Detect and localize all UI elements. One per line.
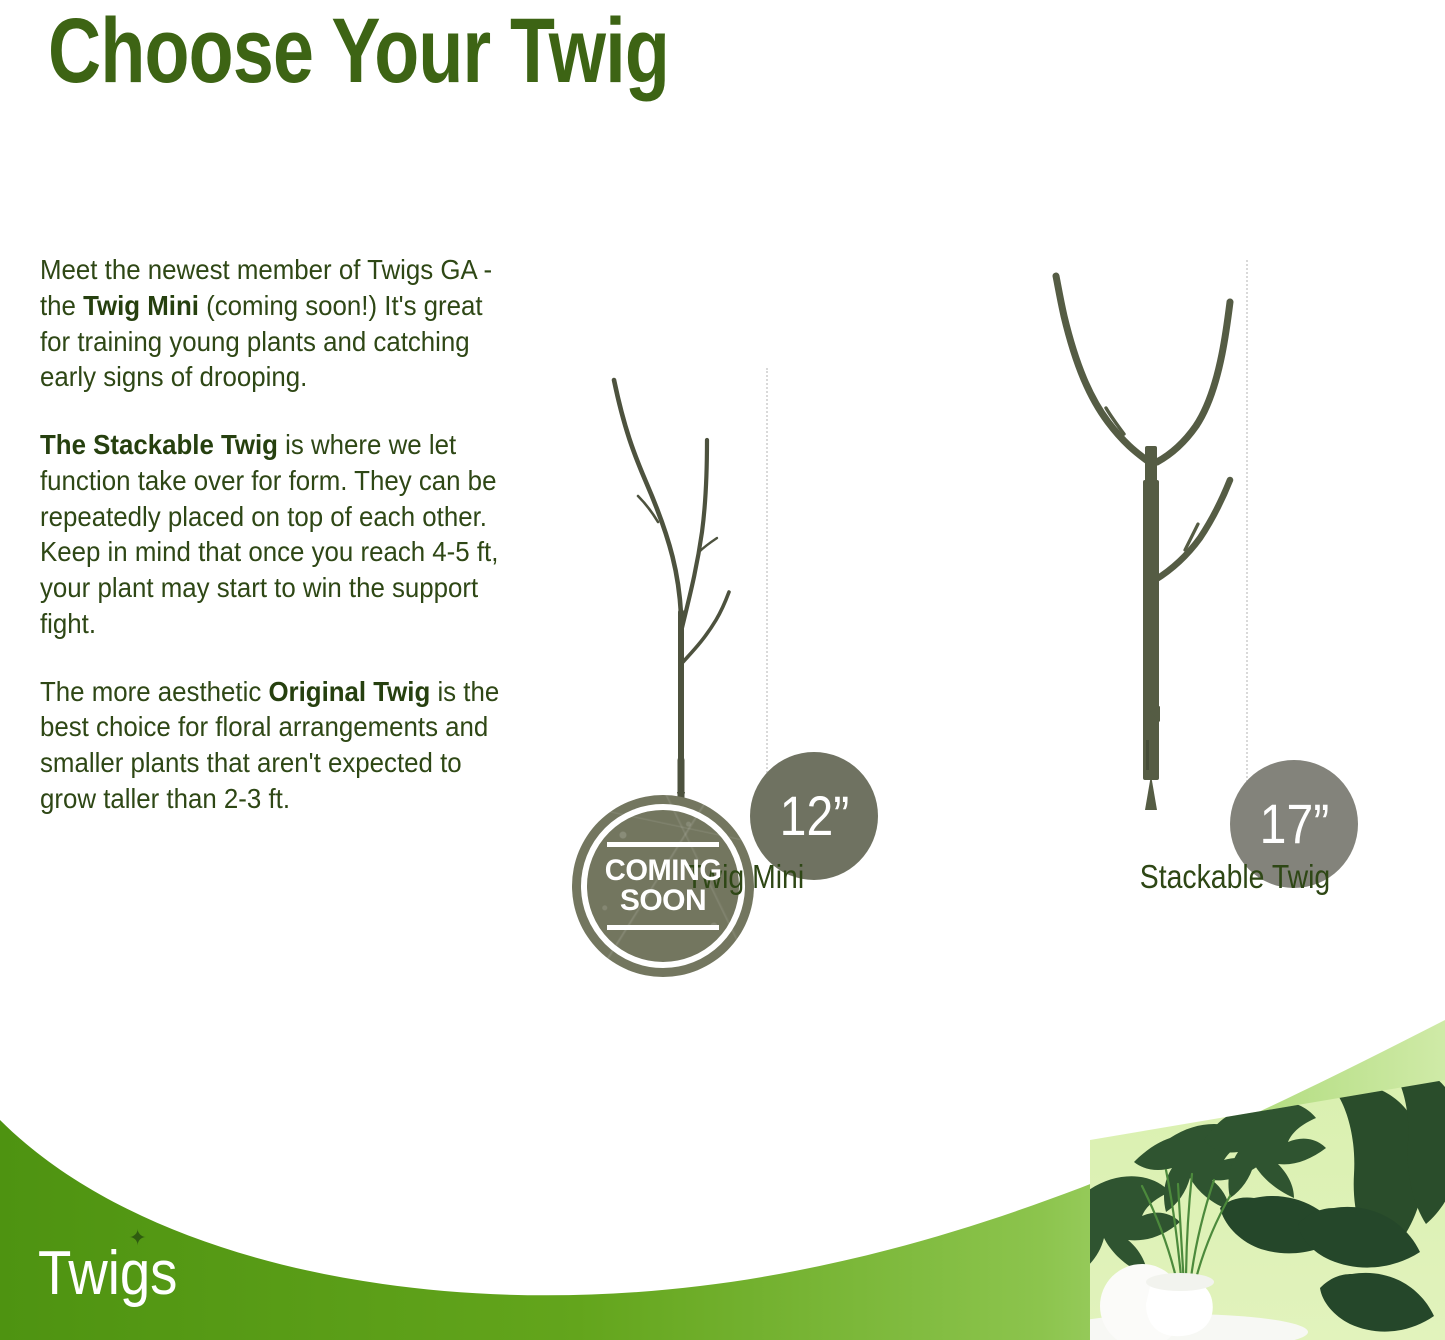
product-comparison: 12” 17” 22” COMING SOON Twig Mini Stacka… <box>560 140 1445 920</box>
stamp-line-2: SOON <box>603 885 723 916</box>
brand-logo: Twigs ✦ <box>38 1243 177 1305</box>
leaf-star-icon: ✦ <box>128 1227 146 1249</box>
paragraph-twig-mini: Meet the newest member of Twigs GA - the… <box>40 252 510 395</box>
size-badge-stackable-twig-label: 17” <box>1259 796 1329 852</box>
p3-text-a: The more aesthetic <box>40 676 268 707</box>
paragraph-stackable-twig: The Stackable Twig is where we let funct… <box>40 427 510 642</box>
brand-logo-text: Twigs <box>38 1239 177 1308</box>
p3-emphasis: Original Twig <box>268 676 430 707</box>
stamp-rule-bottom <box>607 925 719 930</box>
p2-emphasis: The Stackable Twig <box>40 429 278 460</box>
twig-illustration-stackable-twig <box>1050 250 1260 810</box>
paragraph-original-twig: The more aesthetic Original Twig is the … <box>40 674 510 817</box>
stamp-rule-top <box>607 842 719 847</box>
footer-band <box>0 1020 1445 1340</box>
stamp-line-1: COMING <box>605 856 722 885</box>
description-column: Meet the newest member of Twigs GA - the… <box>40 252 510 849</box>
twig-illustration-twig-mini <box>580 362 770 812</box>
size-badge-twig-mini-label: 12” <box>779 788 849 844</box>
plant-photo <box>1050 1060 1445 1340</box>
page-title: Choose Your Twig <box>48 2 669 101</box>
infographic-page: Choose Your Twig Meet the newest member … <box>0 0 1445 1340</box>
stamp-content: COMING SOON <box>603 842 723 931</box>
p2-text-b: is where we let function take over for f… <box>40 429 498 639</box>
product-label-stackable-twig: Stackable Twig <box>1050 858 1420 896</box>
p1-emphasis: Twig Mini <box>83 290 199 321</box>
